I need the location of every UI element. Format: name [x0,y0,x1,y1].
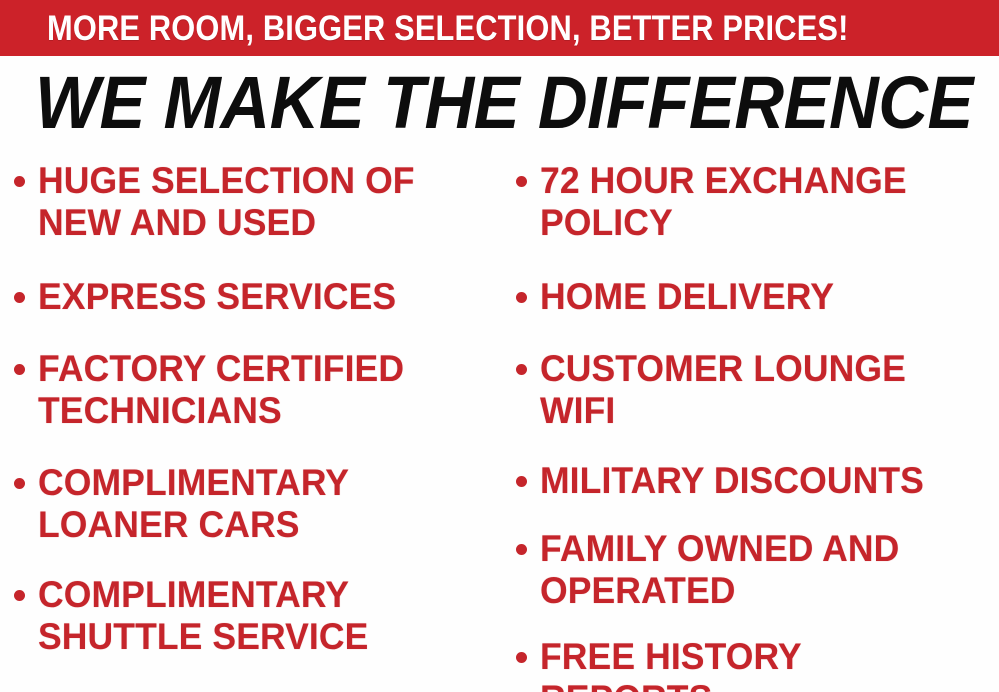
list-item-label: COMPLIMENTARY LOANER CARS [38,462,476,546]
benefits-column-right: 72 HOUR EXCHANGE POLICY HOME DELIVERY CU… [516,160,999,692]
list-item: HUGE SELECTION OF NEW AND USED [14,160,494,244]
list-item: FACTORY CERTIFIED TECHNICIANS [14,348,494,432]
list-item-label: 72 HOUR EXCHANGE POLICY [540,160,981,244]
benefits-columns: HUGE SELECTION OF NEW AND USED EXPRESS S… [0,160,999,692]
list-item-label: EXPRESS SERVICES [38,276,396,318]
bullet-dot-icon [14,364,25,375]
list-item-label: FAMILY OWNED AND OPERATED [540,528,981,612]
list-item: FREE HISTORY REPORTS [516,636,999,692]
list-item-label: FREE HISTORY REPORTS [540,636,981,692]
list-item: MILITARY DISCOUNTS [516,460,999,502]
list-item-label: HUGE SELECTION OF NEW AND USED [38,160,476,244]
list-item-label: HOME DELIVERY [540,276,834,318]
list-item: FAMILY OWNED AND OPERATED [516,528,999,612]
list-item: COMPLIMENTARY SHUTTLE SERVICE [14,574,494,658]
list-item: COMPLIMENTARY LOANER CARS [14,462,494,546]
promotional-poster: MORE ROOM, BIGGER SELECTION, BETTER PRIC… [0,0,999,692]
list-item: 72 HOUR EXCHANGE POLICY [516,160,999,244]
list-item-label: COMPLIMENTARY SHUTTLE SERVICE [38,574,476,658]
bullet-dot-icon [516,476,527,487]
bullet-dot-icon [14,176,25,187]
list-item: HOME DELIVERY [516,276,999,318]
list-item: CUSTOMER LOUNGE WIFI [516,348,999,432]
banner-headline-text: MORE ROOM, BIGGER SELECTION, BETTER PRIC… [47,11,849,46]
bullet-dot-icon [516,652,527,663]
list-item: EXPRESS SERVICES [14,276,494,318]
page-title: WE MAKE THE DIFFERENCE [35,66,964,140]
bullet-dot-icon [14,292,25,303]
bullet-dot-icon [516,292,527,303]
list-item-label: MILITARY DISCOUNTS [540,460,924,502]
bullet-dot-icon [516,544,527,555]
bullet-dot-icon [14,590,25,601]
bullet-dot-icon [516,364,527,375]
top-banner: MORE ROOM, BIGGER SELECTION, BETTER PRIC… [0,0,999,56]
bullet-dot-icon [14,478,25,489]
benefits-column-left: HUGE SELECTION OF NEW AND USED EXPRESS S… [14,160,494,684]
bullet-dot-icon [516,176,527,187]
list-item-label: FACTORY CERTIFIED TECHNICIANS [38,348,476,432]
list-item-label: CUSTOMER LOUNGE WIFI [540,348,981,432]
